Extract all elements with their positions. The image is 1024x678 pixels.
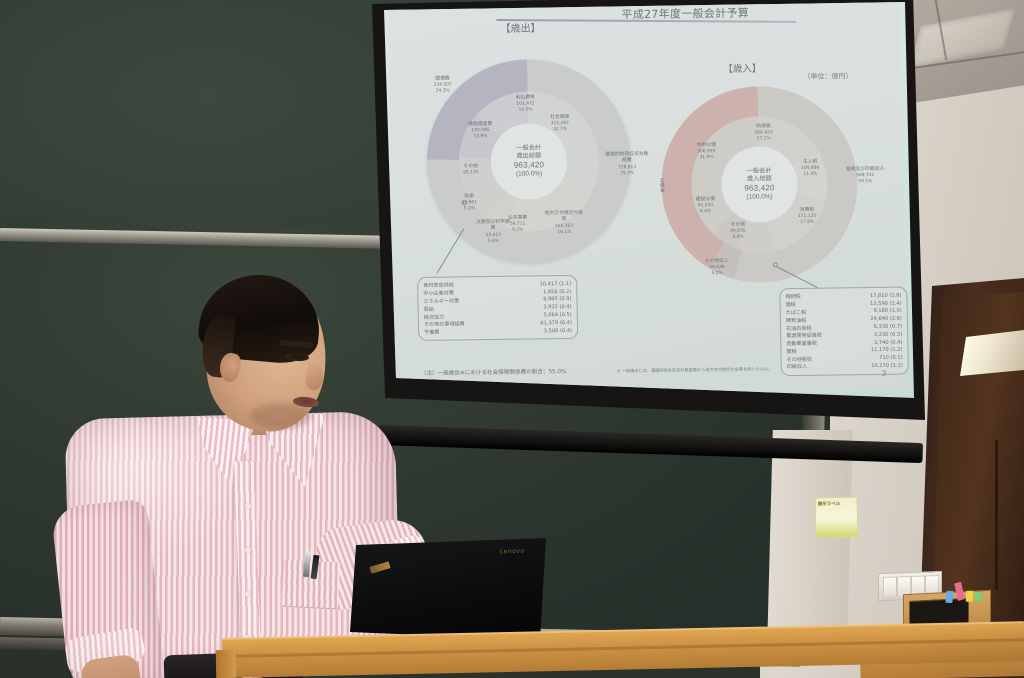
revenue-detail-callout: 相続税17,810 (1.8) 酒税13,590 (1.4) たばこ税9,180… bbox=[779, 287, 909, 376]
door-window bbox=[960, 330, 1024, 376]
expenditure-detail-table: 食料安定供給10,417 (1.1) 中小企業対策1,856 (0.2) エネル… bbox=[423, 280, 572, 336]
revenue-outer-label-kosaikin: 公債金 bbox=[657, 178, 664, 192]
expenditure-inner-label-saimushokan: 債務償還費 133,595 13.9% bbox=[468, 122, 492, 141]
revenue-inner-label-shotokuzei: 所得税 164,420 17.1% bbox=[754, 124, 773, 143]
slide-page-number: 3 bbox=[882, 369, 887, 378]
expenditure-outer-label-kokusaihi: 国債費 234,507 24.3% bbox=[433, 77, 452, 96]
chalk-green[interactable] bbox=[974, 592, 982, 602]
shirt-button bbox=[245, 547, 251, 553]
expenditure-callout-anchor bbox=[462, 200, 467, 205]
unit-note: （単位：億円） bbox=[803, 71, 852, 82]
lecture-room-scene: 掲示ラベル 平成27年度一般会計予算 【歳出】 【歳入】 （単位：億円） bbox=[0, 0, 1024, 678]
revenue-inner-label-kensetsukosai: 建設公債 61,550 6.4% bbox=[696, 197, 716, 216]
expenditure-inner-label-sonota: その他 95,130 bbox=[463, 164, 479, 177]
projected-slide: 平成27年度一般会計予算 【歳出】 【歳入】 （単位：億円） 一般会計 歳出総額… bbox=[374, 2, 914, 434]
expenditure-inner-label-shakaihosho: 社会保障 315,297 32.7% bbox=[550, 115, 570, 134]
revenue-inner-label-sonota: その他 84,676 8.8% bbox=[730, 223, 746, 242]
expenditure-section-label: 【歳出】 bbox=[500, 19, 540, 35]
expenditure-inner-label-bunkyo: 文教及び科学振興 53,613 5.6% bbox=[476, 220, 510, 245]
center-percent: (100.0%) bbox=[746, 193, 773, 201]
projection-screen-surface: 平成27年度一般会計予算 【歳出】 【歳入】 （単位：億円） 一般会計 歳出総額… bbox=[374, 2, 914, 434]
expenditure-inner-label-riharai: 利払費等 101,472 10.5% bbox=[516, 95, 536, 114]
revenue-section-label: 【歳入】 bbox=[723, 60, 761, 74]
revenue-inner-label-hojinzei: 法人税 109,899 11.4% bbox=[801, 160, 820, 179]
center-percent: (100.0%) bbox=[516, 170, 543, 178]
presenter-chin-shadow bbox=[250, 403, 312, 429]
revenue-inner-label-sonotashunyu: その他収入 49,639 5.2% bbox=[705, 259, 729, 278]
revenue-inner-label-shohizei: 消費税 171,120 17.8% bbox=[798, 208, 817, 227]
expenditure-outer-label-primary: 基礎的財政収支対象経費 728,913 75.7% bbox=[605, 152, 649, 177]
revenue-detail-rows: 相続税17,810 (1.8) 酒税13,590 (1.4) たばこ税9,180… bbox=[785, 292, 902, 371]
expenditure-inner-label-chihokoufu: 地方交付税交付金等 155,357 16.1% bbox=[544, 211, 584, 236]
presenter-shirt-pocket bbox=[281, 560, 340, 610]
revenue-outer-label-sozei: 租税及び印紙収入 569,731 59.1% bbox=[843, 167, 887, 186]
slide-title: 平成27年度一般会計予算 bbox=[570, 4, 800, 23]
expenditure-inner-label-kokyojigyo: 公共事業 59,711 6.2% bbox=[508, 216, 528, 235]
expenditure-detail-rows: 食料安定供給10,417 (1.1) 中小企業対策1,856 (0.2) エネル… bbox=[423, 280, 572, 336]
table-row: 予備費3,500 (0.4) bbox=[424, 327, 572, 337]
door-seam bbox=[995, 440, 998, 590]
center-amount: 963,420 bbox=[514, 160, 545, 170]
revenue-detail-table: 相続税17,810 (1.8) 酒税13,590 (1.4) たばこ税9,180… bbox=[785, 292, 902, 371]
chalk-blue[interactable] bbox=[945, 591, 953, 603]
wall-label-sticker: 掲示ラベル bbox=[815, 497, 859, 539]
center-amount: 963,420 bbox=[744, 183, 775, 193]
expenditure-detail-callout: 食料安定供給10,417 (1.1) 中小企業対策1,856 (0.2) エネル… bbox=[417, 275, 578, 342]
shirt-button bbox=[245, 591, 251, 597]
chalk-yellow[interactable] bbox=[966, 591, 974, 602]
lenovo-logo-icon: Lenovo bbox=[500, 548, 525, 556]
revenue-inner-label-tokureikosai: 特例公債 306,933 31.9% bbox=[697, 143, 717, 162]
light-switch-1[interactable] bbox=[883, 576, 897, 597]
podium-left-side bbox=[216, 650, 236, 678]
shirt-button bbox=[245, 503, 251, 509]
